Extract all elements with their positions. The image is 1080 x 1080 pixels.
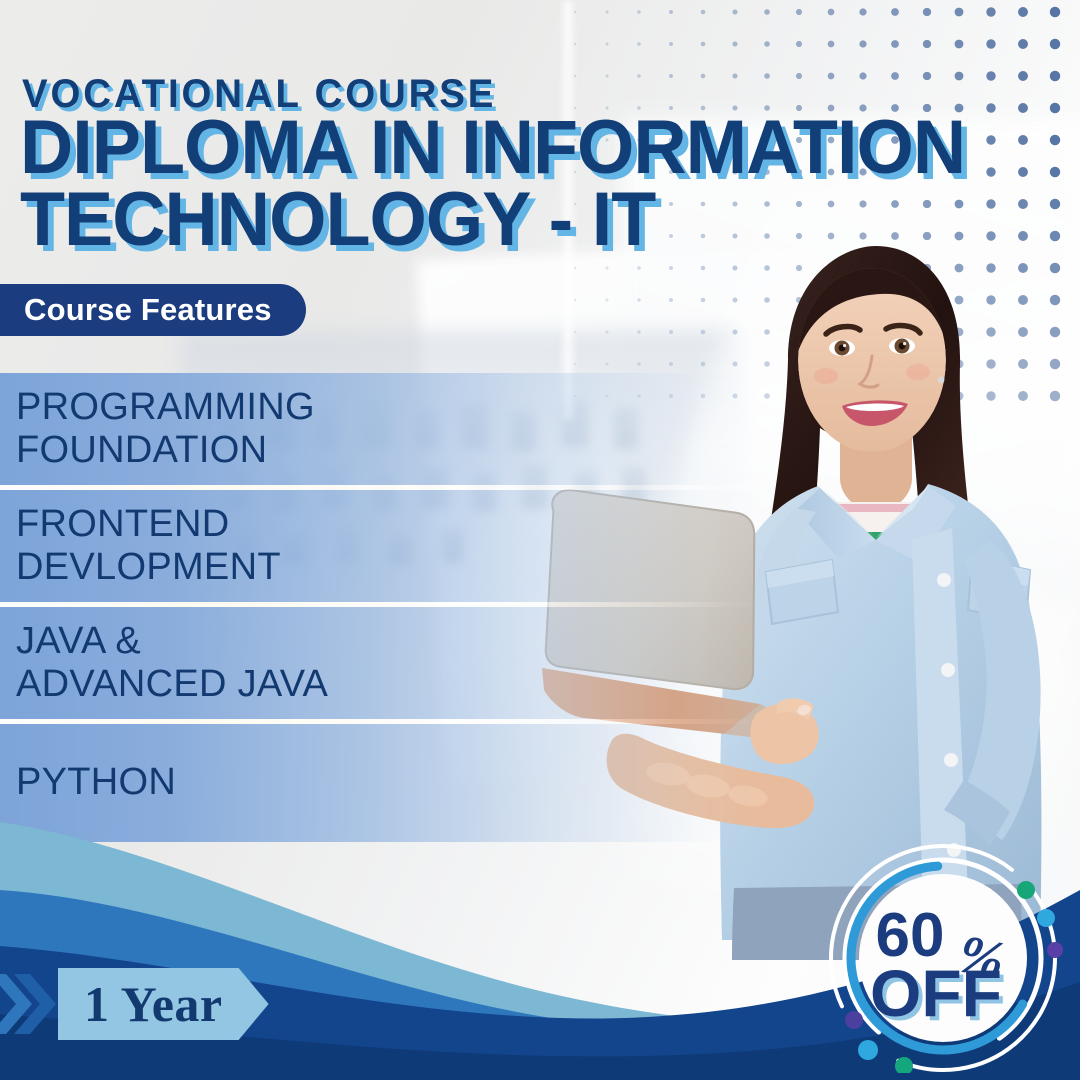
- dot-teal-1: [1017, 881, 1035, 899]
- duration-banner: 1 Year: [58, 968, 269, 1040]
- grid-dot: [701, 10, 706, 15]
- feature-label: FRONTENDDEVLOPMENT: [16, 503, 281, 590]
- earring: [938, 377, 945, 384]
- grid-dot: [732, 73, 737, 78]
- grid-dot: [891, 8, 899, 16]
- grid-dot: [859, 40, 866, 47]
- feature-label: PROGRAMMINGFOUNDATION: [16, 386, 315, 473]
- grid-dot: [606, 75, 609, 78]
- grid-dot: [923, 72, 931, 80]
- feature-row: FRONTENDDEVLOPMENT: [0, 490, 760, 602]
- grid-dot: [764, 73, 770, 79]
- grid-dot: [669, 74, 673, 78]
- grid-dot: [637, 10, 640, 13]
- grid-dot: [701, 42, 706, 47]
- grid-dot: [1018, 7, 1028, 17]
- discount-badge: 60 % OFF OFF: [818, 838, 1068, 1073]
- grid-dot: [796, 73, 802, 79]
- grid-dot: [986, 7, 995, 16]
- grid-dot: [764, 41, 770, 47]
- grid-dot: [828, 73, 835, 80]
- feature-line-2: DEVLOPMENT: [16, 546, 281, 589]
- dot-purple-2: [845, 1011, 863, 1029]
- grid-dot: [669, 10, 673, 14]
- duration-ribbon: 1 Year: [0, 968, 269, 1040]
- grid-dot: [574, 11, 576, 13]
- grid-dot: [891, 40, 899, 48]
- grid-dot: [891, 72, 899, 80]
- feature-line-2: FOUNDATION: [16, 429, 315, 472]
- grid-dot: [732, 9, 737, 14]
- grid-dot: [923, 40, 931, 48]
- grid-dot: [637, 74, 640, 77]
- grid-dot: [955, 8, 964, 17]
- grid-dot: [1018, 39, 1028, 49]
- grid-dot: [1050, 167, 1060, 177]
- grid-dot: [1050, 199, 1060, 209]
- discount-off: OFF: [870, 956, 1002, 1030]
- dot-cyan-1: [1037, 909, 1055, 927]
- grid-dot: [796, 9, 802, 15]
- grid-dot: [986, 71, 995, 80]
- grid-dot: [606, 11, 609, 14]
- course-features-label: Course Features: [24, 292, 272, 328]
- feature-row: JAVA &ADVANCED JAVA: [0, 607, 760, 719]
- grid-dot: [764, 9, 770, 15]
- feature-label: JAVA &ADVANCED JAVA: [16, 620, 328, 707]
- grid-dot: [637, 42, 640, 45]
- grid-dot: [859, 8, 866, 15]
- grid-dot: [1050, 103, 1060, 113]
- feature-line-2: ADVANCED JAVA: [16, 663, 328, 706]
- feature-line-1: FRONTEND: [16, 503, 281, 546]
- grid-dot: [859, 72, 866, 79]
- grid-dot: [1018, 71, 1028, 81]
- feature-row: PROGRAMMINGFOUNDATION: [0, 373, 760, 485]
- duration-label: 1 Year: [84, 975, 223, 1033]
- grid-dot: [1050, 135, 1060, 145]
- grid-dot: [732, 41, 737, 46]
- feature-line-1: JAVA &: [16, 620, 328, 663]
- chevron-arrows-icon: [0, 968, 62, 1040]
- grid-dot: [669, 42, 673, 46]
- dot-cyan-2: [858, 1040, 878, 1060]
- dot-purple-1: [1047, 942, 1063, 958]
- grid-dot: [1050, 39, 1060, 49]
- grid-dot: [574, 43, 576, 45]
- grid-dot: [606, 43, 609, 46]
- grid-dot: [955, 40, 964, 49]
- title-line-1: DIPLOMA IN INFORMATION: [20, 112, 1039, 184]
- grid-dot: [828, 9, 835, 16]
- grid-dot: [574, 75, 576, 77]
- course-features-badge: Course Features: [0, 284, 306, 336]
- grid-dot: [796, 41, 802, 47]
- grid-dot: [701, 74, 706, 79]
- title-line-2: TECHNOLOGY - IT: [20, 184, 1039, 256]
- feature-line-1: PROGRAMMING: [16, 386, 315, 429]
- grid-dot: [955, 72, 964, 81]
- grid-dot: [986, 39, 995, 48]
- grid-dot: [1050, 7, 1060, 17]
- page-title: DIPLOMA IN INFORMATION TECHNOLOGY - IT: [20, 112, 1039, 256]
- grid-dot: [1050, 71, 1060, 81]
- promo-poster: VOCATIONAL COURSE DIPLOMA IN INFORMATION…: [0, 0, 1080, 1080]
- grid-dot: [923, 8, 931, 16]
- grid-dot: [828, 41, 835, 48]
